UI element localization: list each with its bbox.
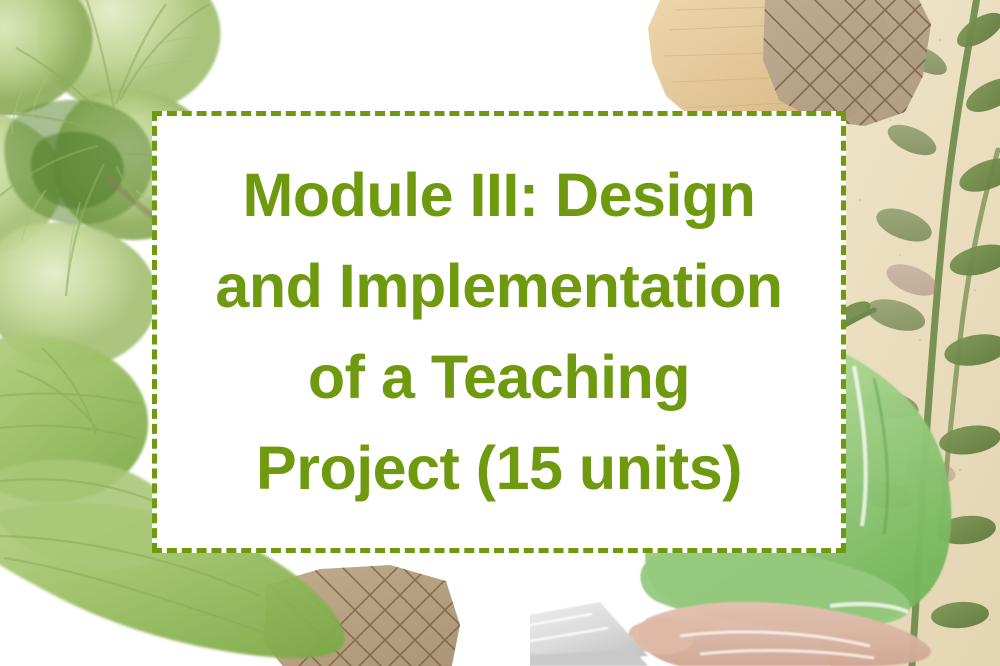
grid-pattern-paper-bottom-decoration (250, 555, 470, 666)
title-line-3: of a Teaching (215, 332, 782, 423)
title-line-1: Module III: Design (215, 150, 782, 241)
page-title: Module III: Design and Implementation of… (215, 150, 782, 514)
title-line-2: and Implementation (215, 241, 782, 332)
title-line-4: Project (15 units) (215, 423, 782, 514)
slide-canvas: Module III: Design and Implementation of… (0, 0, 1000, 666)
title-card: Module III: Design and Implementation of… (152, 111, 846, 553)
